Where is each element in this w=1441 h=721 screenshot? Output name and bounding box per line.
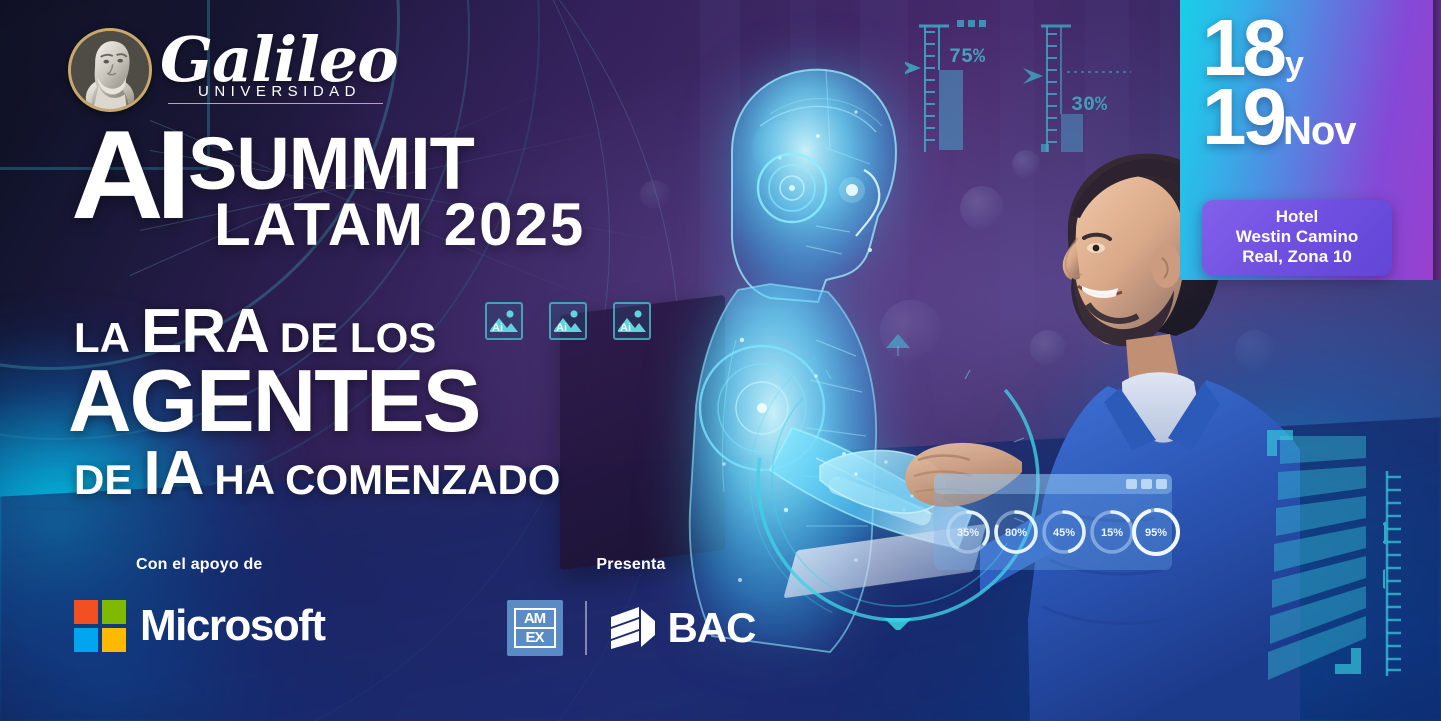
event-logotype: AI SUMMIT LATAM 2025 [72, 126, 585, 252]
galileo-portrait-medallion [68, 28, 152, 112]
support-sponsor-block: Con el apoyo de Microsoft [74, 556, 325, 652]
day-two: 19 [1202, 83, 1283, 152]
headline-agentes: AGENTES [68, 361, 479, 442]
month-label: Nov [1283, 114, 1356, 151]
headline-ha-comenzado: HA COMENZADO [214, 456, 560, 504]
bac-wordmark: BAC [668, 604, 756, 652]
presenter-sponsor-block: Presenta AM EX [507, 556, 756, 656]
date-conjunction: y [1283, 50, 1304, 83]
headline-ia: IA [143, 438, 203, 509]
amex-top-text: AM [516, 610, 554, 629]
sponsors-section: Con el apoyo de Microsoft Presenta AM EX [74, 556, 756, 656]
venue-badge: Hotel Westin Camino Real, Zona 10 [1202, 200, 1392, 276]
microsoft-squares-icon [74, 600, 126, 652]
bac-logo[interactable]: BAC [609, 604, 756, 652]
logo-underline [168, 103, 383, 104]
presenter-label: Presenta [507, 556, 756, 574]
event-promo-banner: 75% 30% [0, 0, 1441, 721]
venue-line-2: Westin Camino [1208, 227, 1386, 247]
event-date-panel: 18 y 19 Nov Hotel Westin Camino Real, Zo… [1180, 0, 1441, 280]
microsoft-wordmark: Microsoft [140, 601, 325, 651]
microsoft-logo[interactable]: Microsoft [74, 600, 325, 652]
galileo-bust-icon [71, 31, 149, 109]
venue-line-3: Real, Zona 10 [1208, 247, 1386, 267]
date-row-second: 19 Nov [1202, 83, 1431, 152]
amex-logo[interactable]: AM EX [507, 600, 563, 656]
amex-bottom-text: EX [516, 629, 554, 646]
sponsor-divider [585, 601, 587, 655]
summit-edition: LATAM 2025 [188, 197, 585, 252]
amex-box-icon: AM EX [514, 608, 556, 648]
headline-de: DE [74, 456, 132, 504]
summit-word: SUMMIT [188, 134, 585, 195]
headline-block: LA ERA DE LOS AGENTES DE IA HA COMENZADO [74, 296, 560, 509]
bac-chevron-icon [609, 605, 657, 651]
ai-logomark: AI [71, 126, 183, 224]
university-name: Galileo [160, 32, 398, 88]
galileo-university-logo[interactable]: Galileo UNIVERSIDAD [68, 28, 398, 112]
support-label: Con el apoyo de [74, 556, 325, 574]
venue-line-1: Hotel [1208, 207, 1386, 227]
